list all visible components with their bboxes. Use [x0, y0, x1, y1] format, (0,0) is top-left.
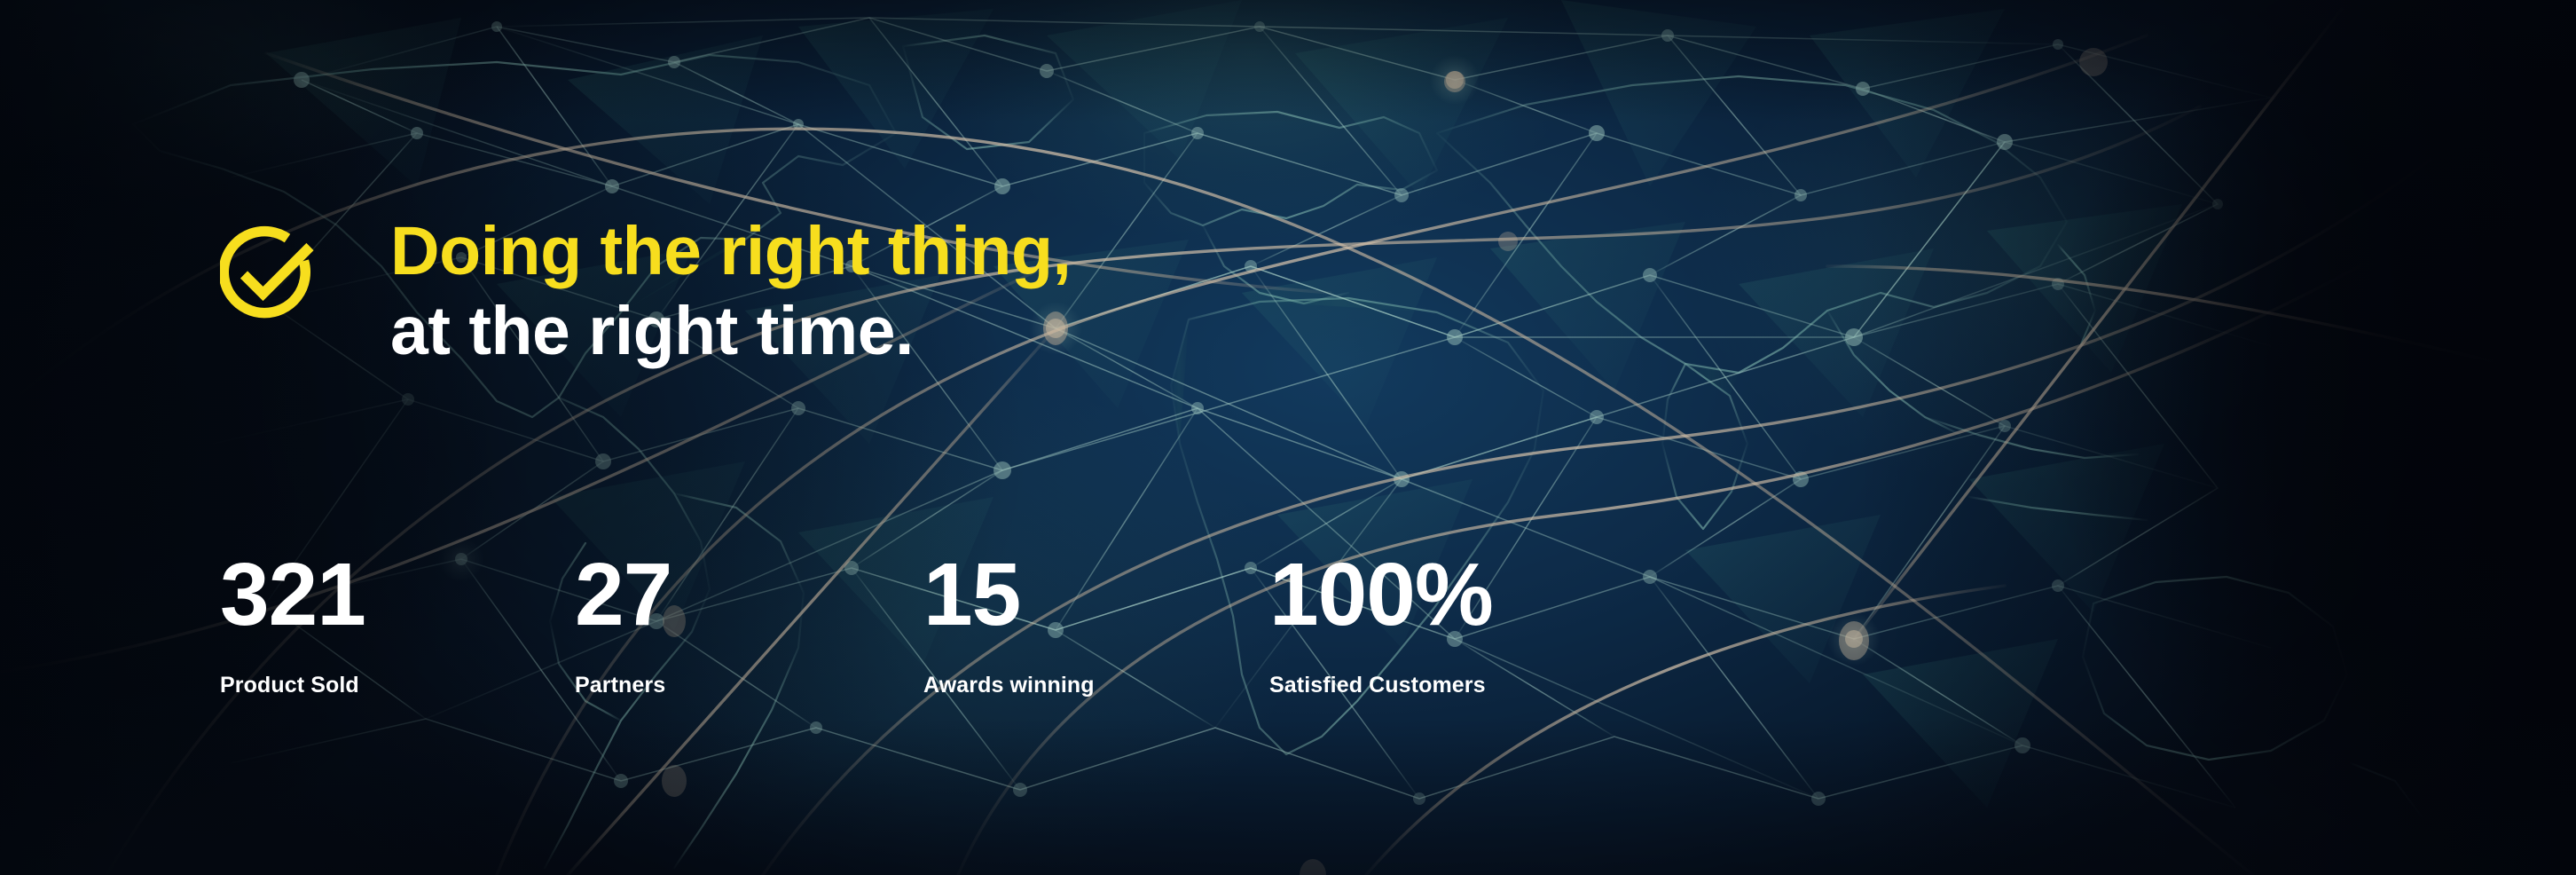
headline-line-1: Doing the right thing,	[390, 211, 1455, 291]
stat-value: 15	[923, 550, 1269, 639]
circle-check-icon	[220, 225, 316, 321]
stat-value: 100%	[1269, 550, 1624, 639]
banner-content: Doing the right thing, at the right time…	[0, 0, 2576, 875]
stats-row: 321 Product Sold 27 Partners 15 Awards w…	[220, 550, 1624, 698]
stat-label: Awards winning	[923, 673, 1269, 698]
stat-value: 321	[220, 550, 575, 639]
headline-text: Doing the right thing, at the right time…	[390, 211, 1455, 371]
stat-item: 100% Satisfied Customers	[1269, 550, 1624, 698]
stat-label: Product Sold	[220, 673, 575, 698]
stat-item: 321 Product Sold	[220, 550, 575, 698]
stat-item: 15 Awards winning	[923, 550, 1269, 698]
hero-banner: Doing the right thing, at the right time…	[0, 0, 2576, 875]
headline-line-2: at the right time.	[390, 291, 1455, 371]
stat-item: 27 Partners	[575, 550, 923, 698]
stat-label: Satisfied Customers	[1269, 673, 1624, 698]
stat-label: Partners	[575, 673, 923, 698]
stat-value: 27	[575, 550, 923, 639]
